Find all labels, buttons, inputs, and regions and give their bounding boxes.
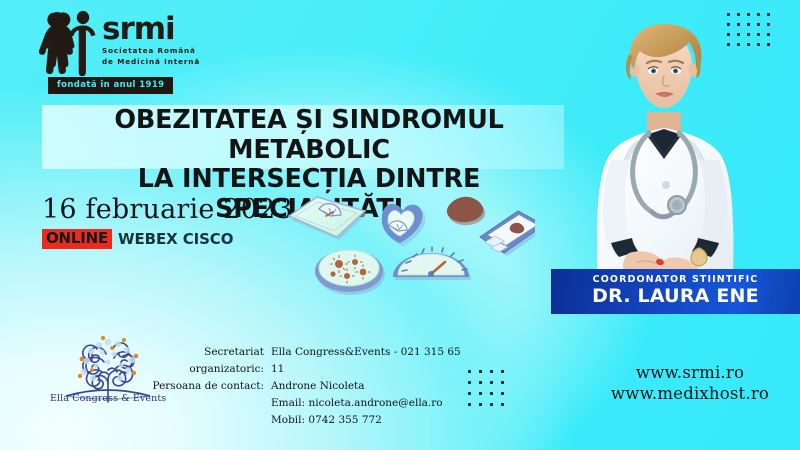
bathroom-scale-icon — [289, 197, 367, 240]
contact-block: Secretariat organizatoric: Ella Congress… — [138, 344, 468, 429]
dot — [767, 43, 770, 46]
dot — [468, 403, 471, 406]
dot — [747, 13, 750, 16]
dot — [727, 23, 730, 26]
dot — [757, 43, 760, 46]
contact-phone: Mobil: 0742 355 772 — [271, 412, 468, 429]
dot — [767, 33, 770, 36]
dot — [490, 392, 493, 395]
dot — [501, 381, 504, 384]
blood-drop-icon — [447, 197, 485, 225]
event-date: 16 februarie 2023 — [42, 194, 293, 225]
dot — [490, 370, 493, 373]
dot — [479, 403, 482, 406]
dot — [757, 13, 760, 16]
srmi-figures-icon — [38, 10, 100, 76]
conference-poster: srmi Societatea Română de Medicină Inter… — [0, 0, 800, 450]
coordinator-banner: COORDONATOR STIINTIFIC DR. LAURA ENE — [551, 269, 800, 314]
coordinator-label: COORDONATOR STIINTIFIC — [593, 275, 759, 285]
srmi-acronym: srmi — [102, 14, 226, 45]
dot — [757, 23, 760, 26]
dot — [737, 33, 740, 36]
website-medixhost[interactable]: www.medixhost.ro — [590, 383, 790, 404]
srmi-subtitle-line1: Societatea Română — [102, 45, 226, 56]
contact-label — [138, 412, 271, 429]
medical-icon-cluster — [285, 192, 535, 302]
decorative-dot-grid-middle — [468, 370, 504, 406]
dot — [501, 403, 504, 406]
dot — [747, 23, 750, 26]
dot — [737, 43, 740, 46]
contact-value: Androne Nicoleta — [271, 378, 468, 395]
heart-gauge-icon — [382, 204, 426, 246]
dot — [479, 381, 482, 384]
event-platform-row: ONLINE WEBEX CISCO — [42, 229, 233, 249]
contact-value: Ella Congress&Events - 021 315 65 11 — [271, 344, 468, 378]
dot — [479, 392, 482, 395]
contact-label: Secretariat organizatoric: — [138, 344, 271, 378]
contact-email: Email: nicoleta.androne@ella.ro — [271, 395, 468, 412]
dot — [767, 23, 770, 26]
dot — [479, 370, 482, 373]
dot — [501, 392, 504, 395]
contact-row: Mobil: 0742 355 772 — [138, 412, 468, 429]
dot — [767, 13, 770, 16]
platform-label: WEBEX CISCO — [118, 230, 233, 248]
dot — [747, 33, 750, 36]
dot — [490, 403, 493, 406]
glucose-meter-icon — [480, 211, 535, 256]
speedometer-icon — [393, 247, 471, 280]
dot — [468, 381, 471, 384]
dot — [737, 13, 740, 16]
decorative-dot-grid-top — [727, 13, 770, 46]
dot — [737, 23, 740, 26]
dot — [468, 370, 471, 373]
dot — [747, 43, 750, 46]
contact-row: Email: nicoleta.androne@ella.ro — [138, 395, 468, 412]
online-badge: ONLINE — [42, 229, 112, 249]
srmi-wordmark: srmi Societatea Română de Medicină Inter… — [102, 14, 226, 67]
dot — [501, 370, 504, 373]
dot — [727, 43, 730, 46]
dot — [468, 392, 471, 395]
website-links: www.srmi.ro www.medixhost.ro — [590, 362, 790, 405]
srmi-subtitle-line2: de Medicină Internă — [102, 56, 226, 67]
contact-label — [138, 395, 271, 412]
contact-row: Secretariat organizatoric: Ella Congress… — [138, 344, 468, 378]
contact-row: Persoana de contact: Androne Nicoleta — [138, 378, 468, 395]
website-srmi[interactable]: www.srmi.ro — [590, 362, 790, 383]
petri-dish-icon — [315, 250, 385, 295]
founded-badge: fondată în anul 1919 — [48, 77, 173, 94]
dot — [490, 381, 493, 384]
title-line-1: OBEZITATEA ȘI SINDROMUL METABOLIC — [44, 106, 574, 165]
dot — [757, 33, 760, 36]
dot — [727, 13, 730, 16]
coordinator-name: DR. LAURA ENE — [592, 286, 759, 308]
dot — [727, 33, 730, 36]
contact-label: Persoana de contact: — [138, 378, 271, 395]
